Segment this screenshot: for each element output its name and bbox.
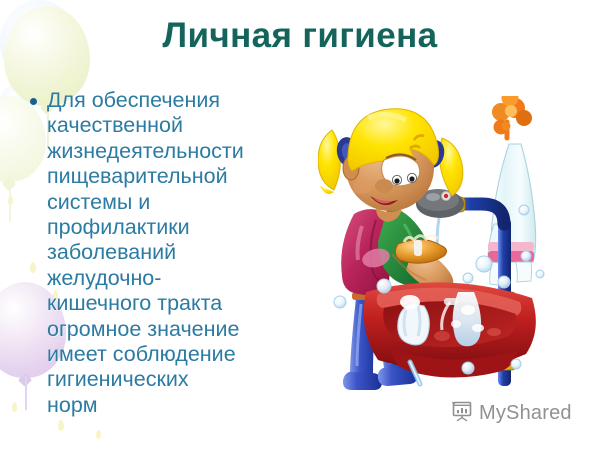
watermark: MyShared <box>450 399 572 428</box>
balloon-knot <box>2 177 16 191</box>
presentation-chart-icon <box>450 399 474 428</box>
text-line: имеет соблюдение <box>47 342 299 367</box>
text-line: Для обеспечения <box>47 88 299 113</box>
balloon-string <box>25 376 27 410</box>
slide-canvas: Личная гигиена Для обеспечения качествен… <box>0 0 600 450</box>
bullet-list: Для обеспечения качественной жизнедеятел… <box>30 88 320 418</box>
text-line: пищеварительной <box>47 164 299 189</box>
confetti-speck <box>12 402 17 412</box>
text-line: гигиенических <box>47 367 299 392</box>
orange-flower-hook <box>492 96 532 138</box>
confetti-speck <box>66 74 71 83</box>
watermark-label: MyShared <box>479 402 572 425</box>
text-line: системы и <box>47 190 299 215</box>
confetti-speck <box>8 196 13 205</box>
text-line: заболеваний <box>47 240 299 265</box>
text-line: качественной <box>47 113 299 138</box>
text-line: профилактики <box>47 215 299 240</box>
bullet-text: Для обеспечения качественной жизнедеятел… <box>47 88 299 418</box>
text-line: кишечного тракта <box>47 291 299 316</box>
text-line: норм <box>47 393 299 418</box>
slide-title: Личная гигиена <box>0 16 600 56</box>
text-line: жизнедеятельности <box>47 139 299 164</box>
confetti-speck <box>96 430 101 439</box>
bullet-dot-icon <box>30 98 37 105</box>
girl-washing-hands-illustration <box>318 96 600 406</box>
text-line: огромное значение <box>47 317 299 342</box>
striped-towel <box>488 144 536 286</box>
text-line: желудочно- <box>47 266 299 291</box>
pale-blue-bubble-small-decoration <box>0 84 34 120</box>
balloon-string <box>9 180 11 222</box>
confetti-speck <box>58 420 64 431</box>
